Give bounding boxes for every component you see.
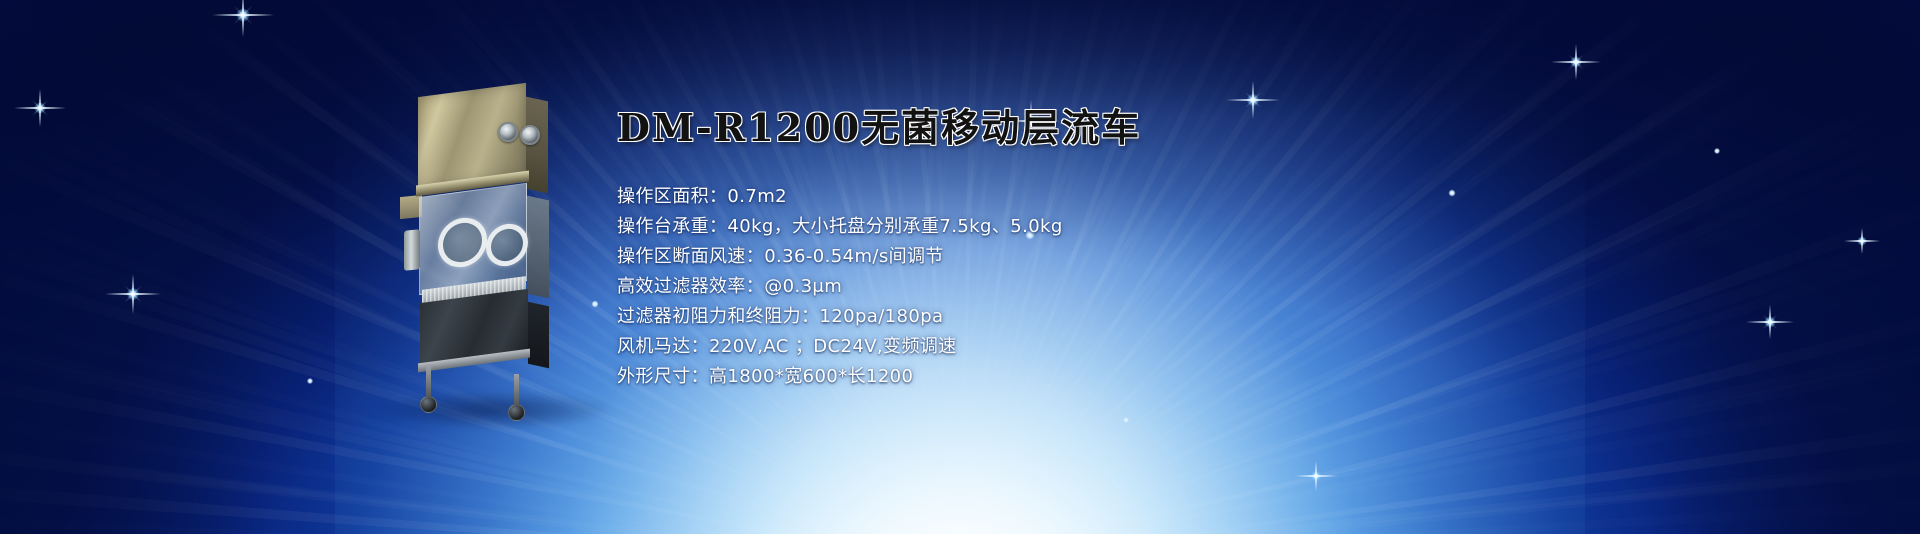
spec-list: 操作区面积：0.7m2 操作台承重：40kg，大小托盘分别承重7.5kg、5.0… xyxy=(617,182,1177,392)
cabinet-glass-side xyxy=(527,196,549,299)
spec-item-air-velocity: 操作区断面风速：0.36-0.54m/s间调节 xyxy=(617,242,1177,272)
pressure-gauge-icon xyxy=(498,122,518,142)
spec-item-load-capacity: 操作台承重：40kg，大小托盘分别承重7.5kg、5.0kg xyxy=(617,212,1177,242)
banner-text-block: DM-R1200无菌移动层流车 操作区面积：0.7m2 操作台承重：40kg，大… xyxy=(617,108,1177,392)
cabinet-upper-side xyxy=(526,97,548,194)
spec-item-area: 操作区面积：0.7m2 xyxy=(617,182,1177,212)
product-title: DM-R1200无菌移动层流车 xyxy=(617,108,1177,148)
cabinet-base-side xyxy=(528,302,549,368)
pressure-gauge-icon xyxy=(520,125,540,145)
caster-wheel-icon xyxy=(420,396,437,413)
spec-item-fan-motor: 风机马达：220V,AC ；DC24V,变频调速 xyxy=(617,332,1177,362)
spec-item-hepa-efficiency: 高效过滤器效率：@0.3μm xyxy=(617,272,1177,302)
caster-wheel-icon xyxy=(508,404,525,421)
cart-leg xyxy=(426,366,431,400)
spec-item-dimensions: 外形尺寸：高1800*宽600*长1200 xyxy=(617,362,1177,392)
cabinet-handle xyxy=(404,229,420,271)
product-photo-laminar-flow-cart xyxy=(398,78,584,408)
cart-leg xyxy=(514,374,519,408)
banner-stage: DM-R1200无菌移动层流车 操作区面积：0.7m2 操作台承重：40kg，大… xyxy=(0,0,1920,534)
spec-item-filter-resistance: 过滤器初阻力和终阻力：120pa/180pa xyxy=(617,302,1177,332)
